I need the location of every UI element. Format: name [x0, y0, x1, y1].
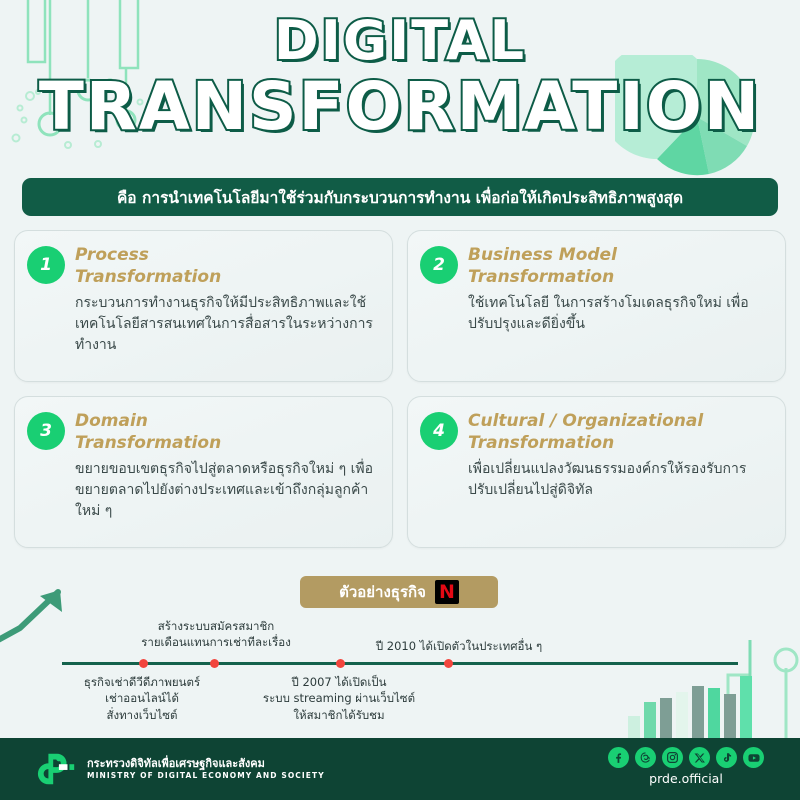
title-line-2: TRANSFORMATION	[0, 74, 800, 140]
definition-banner: คือ การนำเทคโนโลยีมาใช้ร่วมกับกระบวนการท…	[22, 178, 778, 216]
timeline-caption-1: ธุรกิจเช่าดีวีดีภาพยนตร์ เช่าออนไลน์ได้ …	[62, 674, 222, 723]
netflix-icon: N	[435, 580, 459, 604]
card-number-badge: 1	[27, 246, 65, 284]
card-header: 1 Process Transformation	[27, 243, 378, 289]
ministry-name-th: กระทรวงดิจิทัลเพื่อเศรษฐกิจและสังคม	[87, 757, 325, 771]
timeline-caption-2: สร้างระบบสมัครสมาชิก รายเดือนแทนการเช่าท…	[110, 618, 322, 651]
example-label: ตัวอย่างธุรกิจ	[339, 580, 426, 604]
card-body: ขยายขอบเขตธุรกิจไปสู่ตลาดหรือธุรกิจใหม่ …	[27, 459, 378, 522]
card-title: Domain Transformation	[75, 409, 221, 455]
social-icon-row	[608, 747, 764, 768]
card-body: เพื่อเปลี่ยนแปลงวัฒนธรรมองค์กรให้รองรับก…	[420, 459, 771, 501]
definition-text: คือ การนำเทคโนโลยีมาใช้ร่วมกับกระบวนการท…	[117, 185, 683, 210]
timeline-dot	[210, 659, 219, 668]
timeline-dot	[139, 659, 148, 668]
card-body: ใช้เทคโนโลยี ในการสร้างโมเดลธุรกิจใหม่ เ…	[420, 293, 771, 335]
card-number-badge: 2	[420, 246, 458, 284]
card-body: กระบวนการทำงานธุรกิจให้มีประสิทธิภาพและใ…	[27, 293, 378, 356]
example-business-badge: ตัวอย่างธุรกิจ N	[300, 576, 498, 608]
infographic-page: DIGITAL TRANSFORMATION คือ การนำเทคโนโลย…	[0, 0, 800, 800]
footer: กระทรวงดิจิทัลเพื่อเศรษฐกิจและสังคม MINI…	[0, 738, 800, 800]
card-header: 3 Domain Transformation	[27, 409, 378, 455]
card-title: Business Model Transformation	[468, 243, 617, 289]
card-cultural-organizational-transformation[interactable]: 4 Cultural / Organizational Transformati…	[407, 396, 786, 548]
card-title: Process Transformation	[75, 243, 221, 289]
card-header: 4 Cultural / Organizational Transformati…	[420, 409, 771, 455]
card-domain-transformation[interactable]: 3 Domain Transformation ขยายขอบเขตธุรกิจ…	[14, 396, 393, 548]
timeline-caption-3: ปี 2007 ได้เปิดเป็น ระบบ streaming ผ่านเ…	[252, 674, 426, 723]
social-links: prde.official	[608, 747, 764, 786]
threads-icon[interactable]	[635, 747, 656, 768]
x-icon[interactable]	[689, 747, 710, 768]
title-line-1: DIGITAL	[0, 14, 800, 68]
youtube-icon[interactable]	[743, 747, 764, 768]
facebook-icon[interactable]	[608, 747, 629, 768]
card-business-model-transformation[interactable]: 2 Business Model Transformation ใช้เทคโน…	[407, 230, 786, 382]
page-title: DIGITAL TRANSFORMATION	[0, 14, 800, 140]
card-number-badge: 4	[420, 412, 458, 450]
card-title: Cultural / Organizational Transformation	[468, 409, 703, 455]
social-handle: prde.official	[608, 771, 764, 786]
card-process-transformation[interactable]: 1 Process Transformation กระบวนการทำงานธ…	[14, 230, 393, 382]
ministry-name-en: MINISTRY OF DIGITAL ECONOMY AND SOCIETY	[87, 771, 325, 781]
transformation-cards: 1 Process Transformation กระบวนการทำงานธ…	[14, 230, 786, 548]
timeline-caption-4: ปี 2010 ได้เปิดตัวในประเทศอื่น ๆ	[350, 638, 568, 654]
card-number-badge: 3	[27, 412, 65, 450]
timeline-dot	[336, 659, 345, 668]
timeline-dot	[444, 659, 453, 668]
timeline-axis	[62, 662, 738, 665]
ministry-logo: กระทรวงดิจิทัลเพื่อเศรษฐกิจและสังคม MINI…	[36, 748, 325, 790]
tiktok-icon[interactable]	[716, 747, 737, 768]
mdes-logo-icon	[36, 748, 78, 790]
card-header: 2 Business Model Transformation	[420, 243, 771, 289]
instagram-icon[interactable]	[662, 747, 683, 768]
netflix-timeline: ธุรกิจเช่าดีวีดีภาพยนตร์ เช่าออนไลน์ได้ …	[0, 620, 800, 730]
